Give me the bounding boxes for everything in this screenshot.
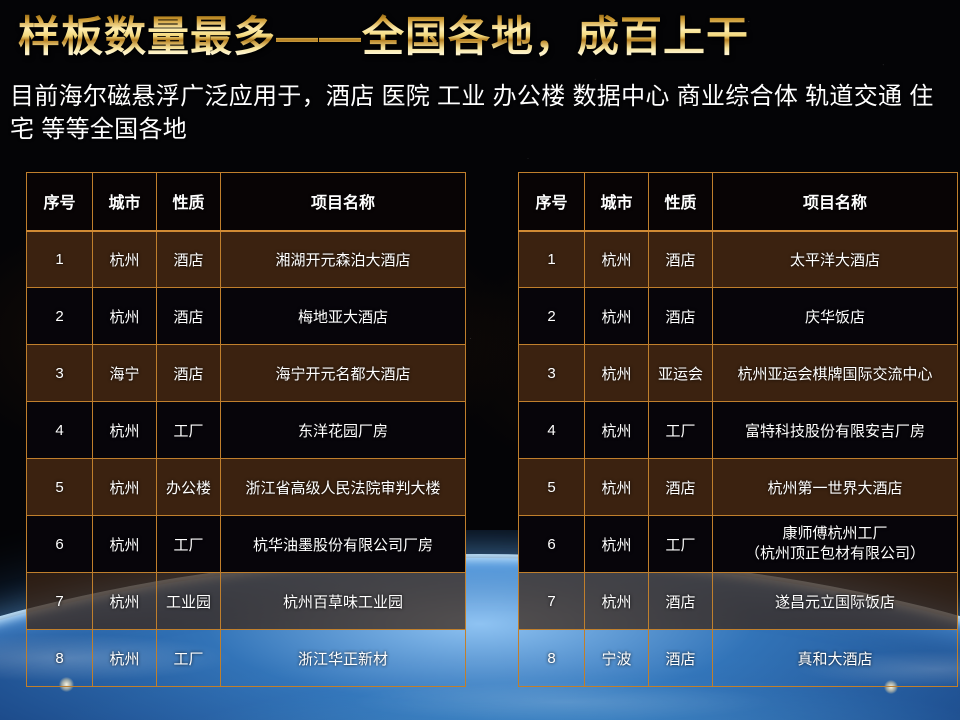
cell-seq: 3 — [519, 345, 585, 402]
cell-seq: 2 — [519, 288, 585, 345]
cell-city: 杭州 — [93, 231, 157, 288]
table-row: 5 杭州 办公楼 浙江省高级人民法院审判大楼 — [27, 459, 466, 516]
cell-city: 杭州 — [585, 402, 649, 459]
cell-name-line2: （杭州顶正包材有限公司） — [715, 544, 955, 564]
cell-type: 酒店 — [649, 573, 713, 630]
cell-name: 梅地亚大酒店 — [221, 288, 466, 345]
table-row: 3 海宁 酒店 海宁开元名都大酒店 — [27, 345, 466, 402]
table-row: 8 宁波 酒店 真和大酒店 — [519, 630, 958, 687]
cell-type: 酒店 — [649, 231, 713, 288]
table-row: 3 杭州 亚运会 杭州亚运会棋牌国际交流中心 — [519, 345, 958, 402]
table-right-body: 1 杭州 酒店 太平洋大酒店 2 杭州 酒店 庆华饭店 3 杭州 亚运会 杭州亚… — [519, 231, 958, 687]
cell-type: 亚运会 — [649, 345, 713, 402]
cell-name-line1: 康师傅杭州工厂 — [715, 524, 955, 544]
column-header-name: 项目名称 — [713, 173, 958, 231]
cell-city: 杭州 — [585, 459, 649, 516]
table-row: 4 杭州 工厂 富特科技股份有限安吉厂房 — [519, 402, 958, 459]
cell-type: 酒店 — [649, 288, 713, 345]
table-header-row: 序号 城市 性质 项目名称 — [519, 173, 958, 231]
cell-name: 杭华油墨股份有限公司厂房 — [221, 516, 466, 573]
column-header-seq: 序号 — [519, 173, 585, 231]
projects-table-right: 序号 城市 性质 项目名称 1 杭州 酒店 太平洋大酒店 2 杭州 酒店 庆华饭… — [518, 172, 958, 687]
cell-city: 杭州 — [93, 573, 157, 630]
cell-name: 杭州百草味工业园 — [221, 573, 466, 630]
cell-seq: 7 — [519, 573, 585, 630]
cell-name: 东洋花园厂房 — [221, 402, 466, 459]
cell-name: 海宁开元名都大酒店 — [221, 345, 466, 402]
table-row: 8 杭州 工厂 浙江华正新材 — [27, 630, 466, 687]
table-row: 7 杭州 工业园 杭州百草味工业园 — [27, 573, 466, 630]
cell-type: 办公楼 — [157, 459, 221, 516]
cell-name: 湘湖开元森泊大酒店 — [221, 231, 466, 288]
column-header-city: 城市 — [93, 173, 157, 231]
cell-type: 酒店 — [157, 231, 221, 288]
cell-city: 杭州 — [93, 516, 157, 573]
table-row: 4 杭州 工厂 东洋花园厂房 — [27, 402, 466, 459]
cell-type: 工厂 — [649, 402, 713, 459]
cell-seq: 8 — [27, 630, 93, 687]
slide-subtitle: 目前海尔磁悬浮广泛应用于，酒店 医院 工业 办公楼 数据中心 商业综合体 轨道交… — [10, 80, 950, 146]
cell-name: 富特科技股份有限安吉厂房 — [713, 402, 958, 459]
table-row: 5 杭州 酒店 杭州第一世界大酒店 — [519, 459, 958, 516]
table-row: 2 杭州 酒店 梅地亚大酒店 — [27, 288, 466, 345]
cell-seq: 3 — [27, 345, 93, 402]
cell-seq: 2 — [27, 288, 93, 345]
table-row: 7 杭州 酒店 遂昌元立国际饭店 — [519, 573, 958, 630]
cell-seq: 6 — [27, 516, 93, 573]
cell-name: 庆华饭店 — [713, 288, 958, 345]
cell-name: 浙江华正新材 — [221, 630, 466, 687]
cell-city: 杭州 — [93, 402, 157, 459]
cell-city: 杭州 — [93, 459, 157, 516]
cell-name: 太平洋大酒店 — [713, 231, 958, 288]
cell-type: 工厂 — [649, 516, 713, 573]
cell-city: 宁波 — [585, 630, 649, 687]
column-header-city: 城市 — [585, 173, 649, 231]
column-header-type: 性质 — [649, 173, 713, 231]
cell-name: 康师傅杭州工厂 （杭州顶正包材有限公司） — [713, 516, 958, 573]
table-row: 6 杭州 工厂 杭华油墨股份有限公司厂房 — [27, 516, 466, 573]
cell-seq: 4 — [519, 402, 585, 459]
cell-type: 酒店 — [649, 459, 713, 516]
cell-type: 酒店 — [649, 630, 713, 687]
cell-name: 遂昌元立国际饭店 — [713, 573, 958, 630]
cell-type: 酒店 — [157, 288, 221, 345]
table-header-row: 序号 城市 性质 项目名称 — [27, 173, 466, 231]
table-right-head: 序号 城市 性质 项目名称 — [519, 173, 958, 231]
cell-type: 工业园 — [157, 573, 221, 630]
cell-type: 酒店 — [157, 345, 221, 402]
cell-name: 真和大酒店 — [713, 630, 958, 687]
cell-seq: 1 — [27, 231, 93, 288]
cell-name: 杭州亚运会棋牌国际交流中心 — [713, 345, 958, 402]
cell-type: 工厂 — [157, 630, 221, 687]
cell-seq: 4 — [27, 402, 93, 459]
cell-name: 浙江省高级人民法院审判大楼 — [221, 459, 466, 516]
table-left-head: 序号 城市 性质 项目名称 — [27, 173, 466, 231]
column-header-seq: 序号 — [27, 173, 93, 231]
cell-seq: 6 — [519, 516, 585, 573]
slide-canvas: 样板数量最多——全国各地，成百上干 目前海尔磁悬浮广泛应用于，酒店 医院 工业 … — [0, 0, 960, 720]
cell-seq: 8 — [519, 630, 585, 687]
projects-table-left: 序号 城市 性质 项目名称 1 杭州 酒店 湘湖开元森泊大酒店 2 杭州 酒店 … — [26, 172, 466, 687]
table-row: 1 杭州 酒店 太平洋大酒店 — [519, 231, 958, 288]
cell-name: 杭州第一世界大酒店 — [713, 459, 958, 516]
slide-title: 样板数量最多——全国各地，成百上干 — [18, 12, 749, 62]
table-row: 1 杭州 酒店 湘湖开元森泊大酒店 — [27, 231, 466, 288]
cell-seq: 7 — [27, 573, 93, 630]
cell-city: 杭州 — [93, 630, 157, 687]
column-header-type: 性质 — [157, 173, 221, 231]
cell-city: 杭州 — [585, 288, 649, 345]
cell-city: 杭州 — [585, 231, 649, 288]
cell-city: 杭州 — [93, 288, 157, 345]
cell-seq: 1 — [519, 231, 585, 288]
cell-seq: 5 — [519, 459, 585, 516]
table-row: 2 杭州 酒店 庆华饭店 — [519, 288, 958, 345]
cell-city: 杭州 — [585, 516, 649, 573]
cell-city: 杭州 — [585, 573, 649, 630]
table-row: 6 杭州 工厂 康师傅杭州工厂 （杭州顶正包材有限公司） — [519, 516, 958, 573]
table-left-body: 1 杭州 酒店 湘湖开元森泊大酒店 2 杭州 酒店 梅地亚大酒店 3 海宁 酒店… — [27, 231, 466, 687]
cell-type: 工厂 — [157, 516, 221, 573]
cell-type: 工厂 — [157, 402, 221, 459]
cell-city: 杭州 — [585, 345, 649, 402]
cell-city: 海宁 — [93, 345, 157, 402]
column-header-name: 项目名称 — [221, 173, 466, 231]
cell-seq: 5 — [27, 459, 93, 516]
